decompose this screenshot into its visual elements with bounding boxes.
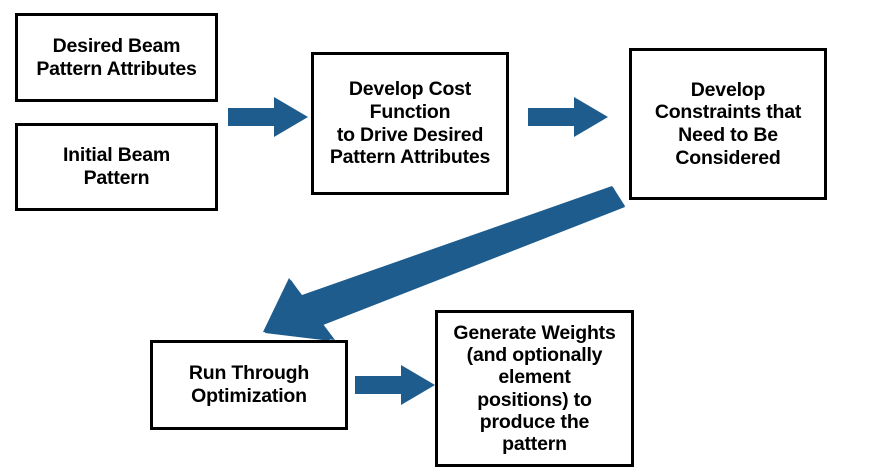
node-label: Run Through Optimization: [189, 362, 309, 407]
node-label: Desired Beam Pattern Attributes: [36, 35, 196, 80]
node-initial-beam-pattern[interactable]: Initial Beam Pattern: [15, 123, 218, 211]
node-desired-beam-pattern-attributes[interactable]: Desired Beam Pattern Attributes: [15, 13, 218, 102]
arrow-right-icon: [528, 93, 608, 141]
arrow-right-icon: [228, 93, 308, 141]
node-develop-constraints[interactable]: Develop Constraints that Need to Be Cons…: [629, 48, 827, 200]
node-label: Generate Weights (and optionally element…: [453, 322, 615, 454]
node-label: Initial Beam Pattern: [63, 144, 170, 189]
node-develop-cost-function[interactable]: Develop Cost Function to Drive Desired P…: [311, 52, 509, 195]
flowchart-canvas: Desired Beam Pattern Attributes Initial …: [0, 0, 869, 476]
arrow-diagonal-down-left-icon: [255, 185, 625, 340]
node-label: Develop Cost Function to Drive Desired P…: [330, 78, 490, 168]
arrow-right-icon: [355, 362, 435, 408]
node-label: Develop Constraints that Need to Be Cons…: [655, 79, 801, 169]
node-run-through-optimization[interactable]: Run Through Optimization: [150, 340, 348, 430]
